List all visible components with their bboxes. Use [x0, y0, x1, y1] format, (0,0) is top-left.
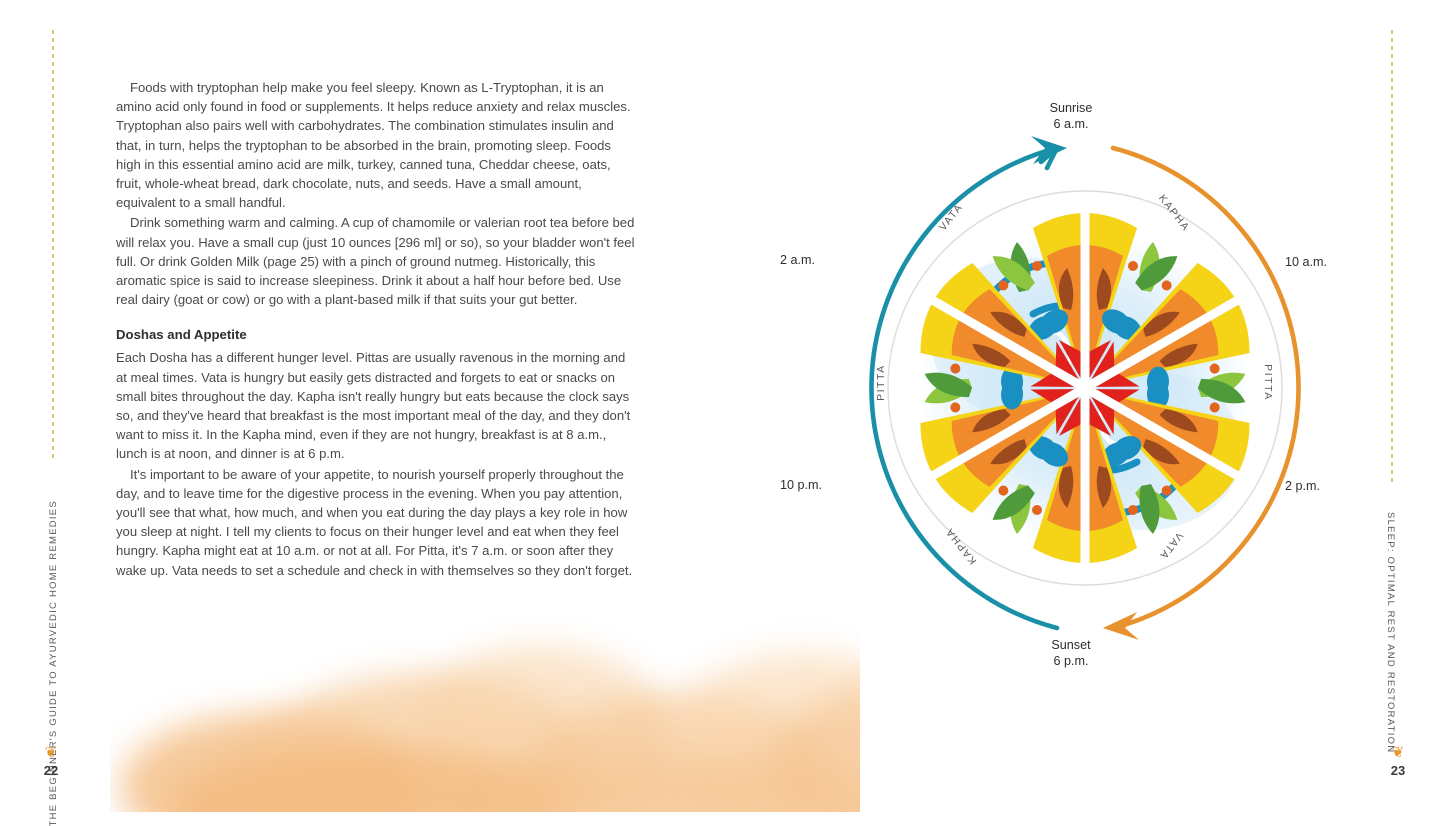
section-heading: Doshas and Appetite: [116, 327, 638, 342]
body-text-column: Foods with tryptophan help make you feel…: [116, 78, 638, 580]
watercolor-wash-image: [110, 616, 860, 812]
fleuron-ornament-icon: ❦: [31, 745, 71, 760]
sunset-title: Sunset: [1018, 637, 1124, 653]
dosha-label-pitta-left: PITTA: [876, 364, 887, 401]
dosha-daily-cycle-diagram: [775, 78, 1395, 698]
dosha-label-pitta-right: PITTA: [1262, 364, 1273, 401]
left-page-folio: ❦ 22: [31, 745, 71, 778]
sunset-time: 6 p.m.: [1018, 653, 1124, 669]
diagram-time-2pm: 2 p.m.: [1285, 478, 1365, 494]
sunrise-title: Sunrise: [1018, 100, 1124, 116]
paragraph: It's important to be aware of your appet…: [116, 465, 638, 580]
diagram-time-10am: 10 a.m.: [1285, 254, 1365, 270]
fleuron-ornament-icon: ❦: [1378, 745, 1418, 760]
paragraph: Drink something warm and calming. A cup …: [116, 213, 638, 309]
left-page-number: 22: [31, 763, 71, 778]
right-page-folio: ❦ 23: [1378, 745, 1418, 778]
right-page-number: 23: [1378, 763, 1418, 778]
diagram-label-sunset: Sunset 6 p.m.: [1018, 637, 1124, 669]
day-arrow-tip: [1103, 612, 1139, 640]
diagram-time-2am: 2 a.m.: [780, 252, 860, 268]
diagram-time-10pm: 10 p.m.: [780, 477, 866, 493]
diagram-label-sunrise: Sunrise 6 a.m.: [1018, 100, 1124, 132]
sunrise-time: 6 a.m.: [1018, 116, 1124, 132]
paragraph: Each Dosha has a different hunger level.…: [116, 348, 638, 463]
left-margin-dotted-rule: [52, 30, 54, 460]
paragraph: Foods with tryptophan help make you feel…: [116, 78, 638, 212]
book-page-spread: THE BEGINNER'S GUIDE TO AYURVEDIC HOME R…: [0, 0, 1445, 812]
